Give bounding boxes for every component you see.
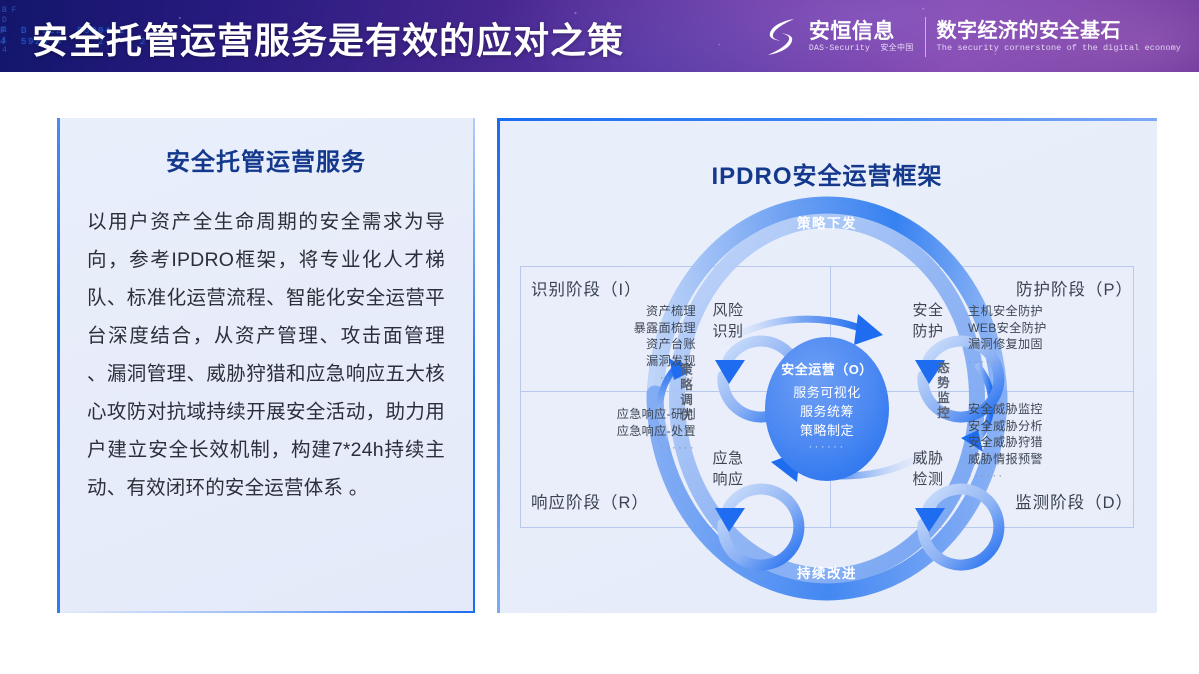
detect-item-list: 安全威胁监控 安全威胁分析 安全威胁狩猎 威胁情报预警 [968,401,1133,467]
quadrant-items-protect: 主机安全防护 WEB安全防护 漏洞修复加固 ······ [968,303,1133,369]
logo-tagline-block: 数字经济的安全基石 The security cornerstone of th… [937,16,1181,58]
logo-brand-block: 安恒信息 DAS-Security 安全中国 [809,16,914,58]
protect-ellipsis: ······ [968,353,1133,370]
quadrant-items-detect: 安全威胁监控 安全威胁分析 安全威胁狩猎 威胁情报预警 ······ [968,401,1133,484]
quadrant-label-detect: 监测阶段（D） [1015,489,1133,513]
logo-brand-en: DAS-Security 安全中国 [809,43,914,54]
das-security-mark-icon [764,17,798,57]
logo-tagline-en: The security cornerstone of the digital … [937,43,1181,54]
ipdro-diagram: 安全运营（O） 服务可视化 服务统筹 策略制定 ······ 风险 识别 安全 … [497,118,1157,613]
left-panel-title: 安全托管运营服务 [87,142,445,177]
respond-ellipsis: ······ [531,439,696,456]
logo-divider [925,17,926,57]
quadrant-items-identify: 资产梳理 暴露面梳理 资产台账 漏洞发现 ······ [531,303,696,386]
page-title: 安全托管运营服务是有效的应对之策 [32,12,624,64]
logo-tagline-cn: 数字经济的安全基石 [937,20,1181,43]
detect-ellipsis: ······ [968,467,1133,484]
ipdro-framework-panel: IPDRO安全运营框架 [497,118,1157,613]
identify-item-list: 资产梳理 暴露面梳理 资产台账 漏洞发现 [531,303,696,369]
quadrant-label-respond: 响应阶段（R） [531,489,649,513]
service-description-panel: 安全托管运营服务 以用户资产全生命周期的安全需求为导向，参考IPDRO框架，将专… [57,118,475,613]
node-label-threat-detection: 威胁 检测 [897,448,959,490]
protect-item-list: 主机安全防护 WEB安全防护 漏洞修复加固 [968,303,1133,353]
arc-caption-policy-dispatch: 策略下发 [497,212,1157,232]
quadrant-items-respond: 应急响应-研判 应急响应-处置 ······ [531,406,696,456]
panel-bottom-accent [57,611,475,613]
node-label-emergency-response: 应急 响应 [697,448,759,490]
respond-item-list: 应急响应-研判 应急响应-处置 [531,406,696,439]
arc-caption-situation-monitoring: 态势监控 [937,361,951,421]
company-logo: 安恒信息 DAS-Security 安全中国 数字经济的安全基石 The sec… [764,13,1181,61]
identify-ellipsis: ······ [531,369,696,386]
quadrant-label-identify: 识别阶段（I） [531,276,642,300]
page-header: B F D B 1 4 F D 9E2 F3D04·1 4 5926 4 1 2… [0,0,1199,72]
node-label-security-protection: 安全 防护 [897,300,959,342]
quadrant-label-protect: 防护阶段（P） [1016,276,1133,300]
node-label-risk-identification: 风险 识别 [697,300,759,342]
left-panel-body: 以用户资产全生命周期的安全需求为导向，参考IPDRO框架，将专业化人才梯队、标准… [87,203,445,507]
logo-brand-cn: 安恒信息 [809,20,914,43]
arc-caption-continuous-improvement: 持续改进 [497,562,1157,582]
